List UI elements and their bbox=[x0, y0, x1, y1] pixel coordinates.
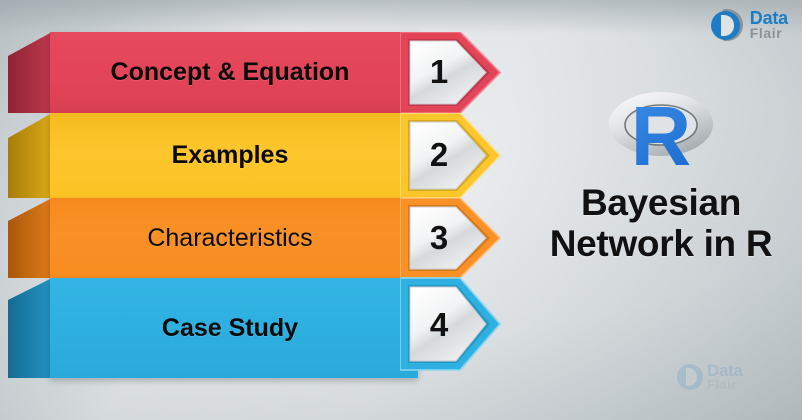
watermark: Data Flair bbox=[677, 363, 743, 391]
step-row-1[interactable]: Concept & Equation 1 bbox=[0, 32, 510, 113]
dataflair-watermark-icon bbox=[677, 364, 703, 390]
step-1-3d-side bbox=[8, 32, 52, 113]
step-2-3d-side bbox=[8, 113, 52, 198]
step-1-label: Concept & Equation bbox=[50, 58, 418, 87]
step-3-number: 3 bbox=[400, 221, 478, 254]
watermark-text-data: Data bbox=[707, 363, 743, 379]
step-3-label: Characteristics bbox=[50, 224, 418, 253]
step-2-bar[interactable]: Examples bbox=[50, 113, 418, 198]
page-title-line-2: Network in R bbox=[520, 223, 802, 264]
step-1-bar[interactable]: Concept & Equation bbox=[50, 32, 418, 113]
step-2-number: 2 bbox=[400, 138, 478, 171]
step-2-label: Examples bbox=[50, 141, 418, 170]
step-row-2[interactable]: Examples 2 bbox=[0, 113, 510, 198]
r-language-logo-icon: R bbox=[581, 78, 741, 178]
logo-blue-circle-shape bbox=[711, 11, 740, 40]
step-4-bar[interactable]: Case Study bbox=[50, 278, 418, 378]
right-panel: R Bayesian Network in R bbox=[520, 78, 802, 265]
step-row-3[interactable]: Characteristics 3 bbox=[0, 198, 510, 278]
step-1-number: 1 bbox=[400, 55, 478, 88]
step-4-label: Case Study bbox=[50, 314, 418, 343]
brand-logo: Data Flair bbox=[711, 8, 788, 42]
background-top-shade bbox=[0, 0, 802, 34]
step-3-3d-side bbox=[8, 198, 52, 278]
step-4-number: 4 bbox=[400, 308, 478, 341]
step-3-bar[interactable]: Characteristics bbox=[50, 198, 418, 278]
page-title-line-1: Bayesian bbox=[520, 182, 802, 223]
infographic-canvas: Data Flair Data Flair Data Flair Data Fl… bbox=[0, 0, 802, 420]
step-row-4[interactable]: Case Study 4 bbox=[0, 278, 510, 378]
brand-logo-text: Data Flair bbox=[750, 10, 788, 39]
step-4-3d-side bbox=[8, 278, 52, 378]
watermark-text-flair: Flair bbox=[707, 379, 743, 391]
dataflair-logo-icon bbox=[711, 8, 745, 42]
svg-text:R: R bbox=[631, 89, 692, 178]
brand-name-flair: Flair bbox=[750, 27, 788, 40]
page-title: Bayesian Network in R bbox=[520, 182, 802, 265]
